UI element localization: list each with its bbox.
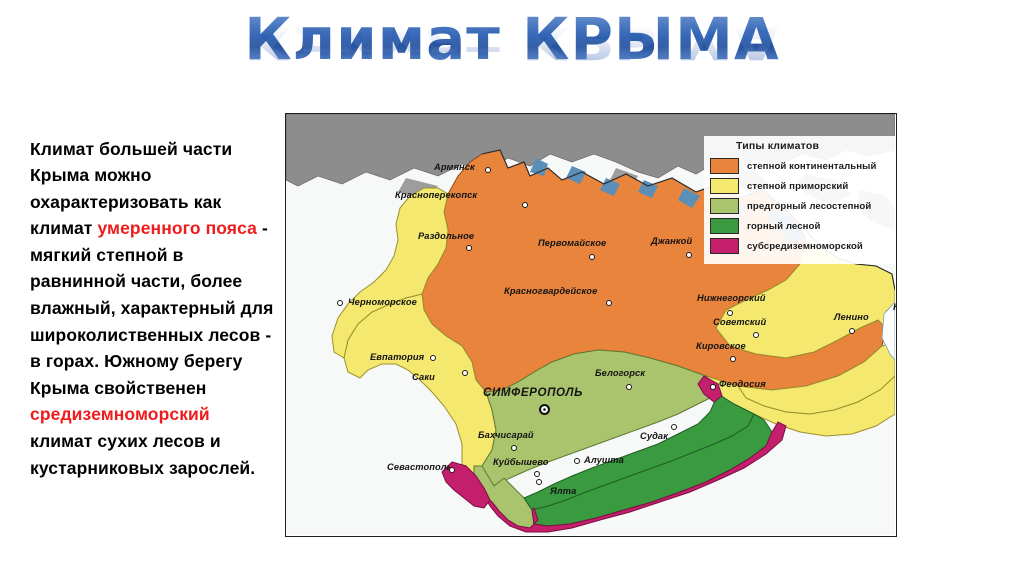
city-marker [511,445,517,451]
map-legend: Типы климатов степной континентальныйсте… [704,136,896,264]
city-marker [534,471,540,477]
legend-item-label: предгорный лесостепной [747,201,871,212]
slide-title-text: Климат КРЫМА [0,6,1024,72]
legend-color-swatch [710,218,739,234]
city-label: Армянск [434,162,475,172]
legend-color-swatch [710,158,739,174]
city-label: Евпатория [370,352,424,362]
city-marker [710,384,716,390]
city-marker [671,424,677,430]
city-label: Куйбышево [493,457,549,467]
legend-item-label: субсредиземноморской [747,241,863,252]
city-marker [485,167,491,173]
city-label: Раздольное [418,231,474,241]
legend-item: субсредиземноморской [710,238,892,254]
city-marker [536,479,542,485]
slide-title: Климат КРЫМА Климат КРЫМА [0,6,1024,102]
city-label: Бахчисарай [478,430,534,440]
city-marker [337,300,343,306]
city-marker [462,370,468,376]
city-marker [727,310,733,316]
city-marker [589,254,595,260]
legend-rows: степной континентальныйстепной приморски… [710,158,892,254]
legend-item: горный лесной [710,218,892,234]
city-marker-capital [539,404,550,415]
city-label: Кировское [696,341,746,351]
city-marker [606,300,612,306]
city-label: Керчь [893,302,897,312]
city-label: Джанкой [651,236,692,246]
city-label: Севастополь [387,462,452,472]
legend-item: предгорный лесостепной [710,198,892,214]
city-marker [686,252,692,258]
city-label: Нижнегорский [697,293,766,303]
city-label: Черноморское [348,297,417,307]
legend-item-label: горный лесной [747,221,821,232]
city-marker [849,328,855,334]
body-text-highlight: средиземноморский [30,404,210,424]
legend-item-label: степной приморский [747,181,848,192]
legend-title: Типы климатов [736,140,892,152]
legend-color-swatch [710,238,739,254]
city-marker [574,458,580,464]
city-label: Советский [713,317,766,327]
city-marker [522,202,528,208]
city-label: Алушта [584,455,624,465]
legend-color-swatch [710,178,739,194]
legend-item-label: степной континентальный [747,161,876,172]
body-text-highlight: умеренного пояса [97,218,257,238]
city-label: Саки [412,372,435,382]
city-label: Красногвардейское [504,286,597,296]
legend-item: степной континентальный [710,158,892,174]
climate-map: АрмянскКрасноперекопскРаздольноеПервомай… [285,113,897,537]
city-marker [626,384,632,390]
city-label: Ленино [834,312,869,322]
city-label: Первомайское [538,238,606,248]
city-label: Феодосия [719,379,766,389]
legend-item: степной приморский [710,178,892,194]
city-label-capital: СИМФЕРОПОЛЬ [483,386,583,399]
city-label: Белогорск [595,368,645,378]
city-label: Ялта [550,486,576,496]
city-marker [449,467,455,473]
city-label: Судак [640,431,668,441]
city-label: Красноперекопск [395,190,477,200]
city-marker [466,245,472,251]
legend-color-swatch [710,198,739,214]
city-marker [753,332,759,338]
city-marker [430,355,436,361]
slide-title-reflection: Климат КРЫМА [0,19,1024,66]
body-text-run: климат сухих лесов и кустарниковых зарос… [30,431,255,478]
body-paragraph: Климат большей части Крыма можно охаракт… [30,136,274,482]
city-marker [730,356,736,362]
body-text-run: - мягкий степной в равнинной части, боле… [30,218,273,398]
